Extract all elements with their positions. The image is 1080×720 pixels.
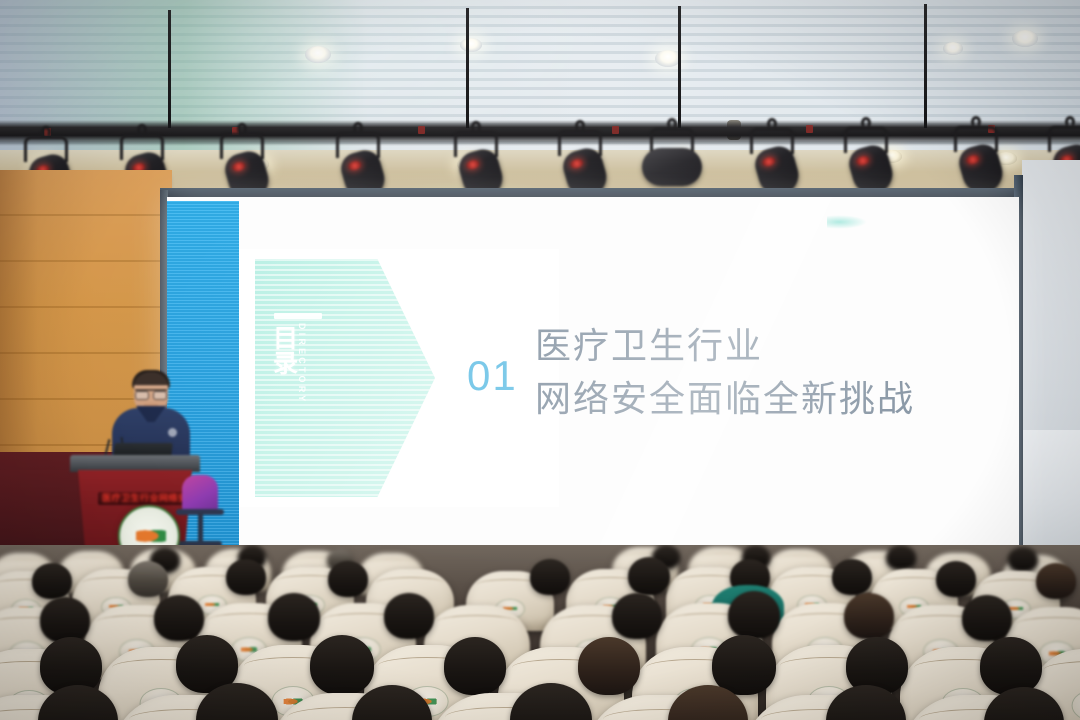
ceiling-downlight (305, 46, 331, 63)
audience-head (886, 545, 916, 570)
audience-head (578, 637, 640, 695)
audience-head (310, 635, 374, 695)
headline-line-1: 医疗卫生行业 (535, 319, 915, 372)
chair-post (198, 513, 203, 543)
fixture-lens (569, 158, 584, 170)
audience-head (712, 635, 776, 695)
fixture-lens (231, 161, 246, 173)
truss-tape-marker (418, 126, 425, 134)
audience-head (980, 637, 1042, 695)
audience-head (1008, 547, 1038, 572)
audience-head (444, 637, 506, 695)
truss-tape-marker (612, 126, 619, 134)
audience-head (612, 593, 662, 639)
speaker-shirt-logo (168, 428, 177, 437)
stage-spotlight (842, 127, 890, 197)
slide-section-number: 01 (467, 355, 518, 397)
audience-head (268, 593, 320, 641)
podium-top-surface (70, 455, 200, 472)
truss-suspension-cable (168, 10, 171, 128)
audience-head (962, 595, 1012, 641)
audience-head (728, 591, 780, 639)
ceiling-downlight (460, 38, 482, 52)
fixture-lens (347, 160, 362, 172)
audience-seating (0, 545, 1080, 720)
speaker-glasses (135, 389, 167, 396)
audience-head (328, 561, 368, 597)
audience-head (832, 559, 872, 595)
projection-screen: 目录 DIRECTORY 01 医疗卫生行业 网络安全面临全新挑战 (167, 197, 1019, 562)
slide-sparkle-artifact (827, 215, 867, 229)
headline-line-2: 网络安全面临全新挑战 (535, 372, 915, 425)
audience-head (32, 563, 72, 599)
ceiling-downlight (943, 42, 963, 55)
audience-head (844, 593, 894, 639)
presentation-slide: 目录 DIRECTORY 01 医疗卫生行业 网络安全面临全新挑战 (167, 197, 1019, 562)
chevron-rule (274, 313, 322, 319)
audience-head (384, 593, 434, 639)
truss-suspension-cable (678, 6, 681, 128)
audience-head (628, 557, 670, 595)
audience-head (128, 561, 168, 597)
audience-head (1036, 563, 1076, 599)
audience-head (530, 559, 570, 595)
fixture-lens (965, 154, 980, 166)
chevron-en-label: DIRECTORY (297, 323, 307, 404)
audience-head (226, 559, 266, 595)
truss-suspension-cable (466, 8, 469, 128)
audience-head (40, 597, 90, 643)
audience-head (154, 595, 204, 641)
truss-tape-marker (806, 125, 813, 133)
fixture-lens (761, 156, 776, 168)
photo-scene: 目录 DIRECTORY 01 医疗卫生行业 网络安全面临全新挑战 医疗卫生行业… (0, 0, 1080, 720)
stage-spotlight (952, 126, 1000, 196)
truss-suspension-cable (924, 4, 927, 128)
slide-headline: 医疗卫生行业 网络安全面临全新挑战 (535, 319, 915, 425)
fixture-body (642, 148, 702, 186)
seat-emblem (1072, 690, 1080, 720)
ceiling-downlight (1012, 30, 1038, 47)
fixture-lens (855, 155, 870, 167)
fixture-lens (465, 159, 480, 171)
audience-head (936, 561, 976, 597)
